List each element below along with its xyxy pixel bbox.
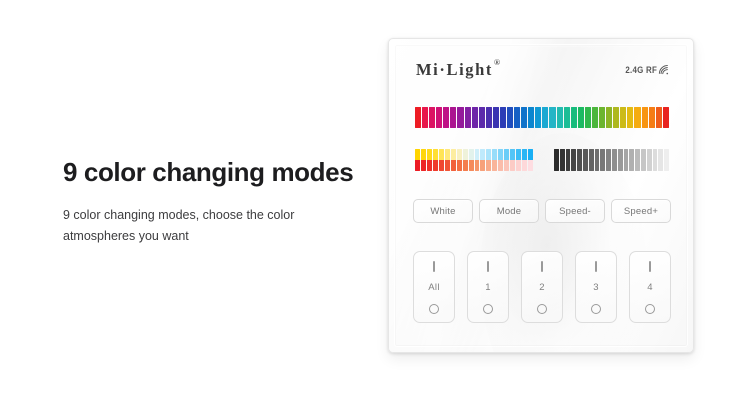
cct-segment-bottom-9 [469, 160, 474, 171]
brightness-segment-15[interactable] [641, 149, 646, 171]
cct-segment-bottom-16 [510, 160, 515, 171]
cct-segment-15[interactable] [504, 149, 509, 171]
cct-segment-top-18 [522, 149, 527, 160]
zone-button-zone-1[interactable]: 1 [467, 251, 509, 323]
rgb-segment-15[interactable] [521, 107, 527, 128]
brightness-segment-17[interactable] [653, 149, 658, 171]
zone-button-label-all: All [428, 283, 439, 293]
rgb-segment-4[interactable] [443, 107, 449, 128]
panel-content: Mi·Light® 2.4G RF [389, 39, 693, 352]
panel-brand-row: Mi·Light® 2.4G RF [416, 60, 669, 80]
cct-segment-top-5 [445, 149, 450, 160]
page-subtitle: 9 color changing modes, choose the color… [63, 205, 313, 249]
brightness-segment-12[interactable] [624, 149, 629, 171]
rgb-segment-35[interactable] [663, 107, 669, 128]
secondary-strip-row [415, 149, 669, 171]
cct-segment-top-11 [480, 149, 485, 160]
cct-segment-bottom-0 [415, 160, 420, 171]
cct-segment-bottom-6 [451, 160, 456, 171]
rgb-segment-23[interactable] [578, 107, 584, 128]
signal-waves-icon [658, 62, 669, 80]
cct-segment-bottom-7 [457, 160, 462, 171]
cct-segment-top-2 [427, 149, 432, 160]
cct-segment-top-0 [415, 149, 420, 160]
mode-button[interactable]: Mode [479, 199, 539, 223]
brightness-segment-18[interactable] [658, 149, 663, 171]
cct-segment-8[interactable] [463, 149, 468, 171]
speed-up-button-label: Speed+ [624, 206, 658, 217]
cct-segment-bottom-19 [528, 160, 533, 171]
rgb-segment-28[interactable] [613, 107, 619, 128]
brightness-segment-8[interactable] [600, 149, 605, 171]
rgb-segment-6[interactable] [457, 107, 463, 128]
brightness-segment-19[interactable] [664, 149, 669, 171]
rgb-segment-30[interactable] [627, 107, 633, 128]
power-off-circle-icon[interactable] [591, 304, 601, 314]
cct-segment-top-15 [504, 149, 509, 160]
cct-segment-13[interactable] [492, 149, 497, 171]
power-on-bar-icon[interactable] [487, 261, 489, 272]
rgb-segment-11[interactable] [493, 107, 499, 128]
rgb-segment-12[interactable] [500, 107, 506, 128]
rgb-segment-10[interactable] [486, 107, 492, 128]
zone-button-label-zone-2: 2 [539, 283, 545, 293]
cct-segment-top-12 [486, 149, 491, 160]
power-on-bar-icon[interactable] [649, 261, 651, 272]
rgb-segment-19[interactable] [549, 107, 555, 128]
brightness-segment-9[interactable] [606, 149, 611, 171]
power-off-circle-icon[interactable] [429, 304, 439, 314]
rgb-segment-9[interactable] [479, 107, 485, 128]
cct-segment-bottom-10 [475, 160, 480, 171]
power-on-bar-icon[interactable] [595, 261, 597, 272]
cct-segment-14[interactable] [498, 149, 503, 171]
cct-segment-top-14 [498, 149, 503, 160]
cct-segment-16[interactable] [510, 149, 515, 171]
cct-segment-12[interactable] [486, 149, 491, 171]
cct-segment-top-13 [492, 149, 497, 160]
rgb-segment-5[interactable] [450, 107, 456, 128]
cct-segment-19[interactable] [528, 149, 533, 171]
cct-segment-bottom-8 [463, 160, 468, 171]
rgb-segment-13[interactable] [507, 107, 513, 128]
zone-button-all[interactable]: All [413, 251, 455, 323]
cct-segment-top-19 [528, 149, 533, 160]
rgb-color-strip[interactable] [415, 107, 669, 128]
cct-segment-top-4 [439, 149, 444, 160]
brightness-segment-6[interactable] [589, 149, 594, 171]
cct-segment-bottom-4 [439, 160, 444, 171]
cct-segment-bottom-12 [486, 160, 491, 171]
cct-segment-4[interactable] [439, 149, 444, 171]
registered-trademark-icon: ® [494, 58, 500, 67]
white-button[interactable]: White [413, 199, 473, 223]
brightness-segment-2[interactable] [566, 149, 571, 171]
white-button-label: White [430, 206, 455, 217]
cct-segment-top-7 [457, 149, 462, 160]
power-off-circle-icon[interactable] [645, 304, 655, 314]
cct-segment-0[interactable] [415, 149, 420, 171]
rgb-segment-7[interactable] [465, 107, 471, 128]
rgb-segment-21[interactable] [564, 107, 570, 128]
marketing-copy-block: 9 color changing modes 9 color changing … [63, 158, 373, 248]
rgb-segment-22[interactable] [571, 107, 577, 128]
power-off-circle-icon[interactable] [483, 304, 493, 314]
brightness-segment-11[interactable] [618, 149, 623, 171]
brightness-segment-7[interactable] [595, 149, 600, 171]
cct-segment-bottom-2 [427, 160, 432, 171]
rgb-segment-34[interactable] [656, 107, 662, 128]
rgb-segment-32[interactable] [642, 107, 648, 128]
rgb-segment-33[interactable] [649, 107, 655, 128]
zone-button-label-zone-4: 4 [647, 283, 653, 293]
power-off-circle-icon[interactable] [537, 304, 547, 314]
rgb-segment-27[interactable] [606, 107, 612, 128]
speed-down-button[interactable]: Speed- [545, 199, 605, 223]
brightness-segment-13[interactable] [629, 149, 634, 171]
cct-segment-top-17 [516, 149, 521, 160]
cct-segment-bottom-15 [504, 160, 509, 171]
rgb-segment-18[interactable] [542, 107, 548, 128]
rf-label: 2.4G RF [625, 65, 657, 75]
cct-segment-bottom-3 [433, 160, 438, 171]
rgb-segment-14[interactable] [514, 107, 520, 128]
page-title: 9 color changing modes [63, 158, 373, 187]
brightness-segment-4[interactable] [577, 149, 582, 171]
brightness-segment-1[interactable] [560, 149, 565, 171]
brightness-segment-5[interactable] [583, 149, 588, 171]
rgb-segment-25[interactable] [592, 107, 598, 128]
cct-segment-top-16 [510, 149, 515, 160]
zone-button-label-zone-1: 1 [485, 283, 491, 293]
milight-touch-panel: Mi·Light® 2.4G RF [388, 38, 694, 353]
power-on-bar-icon[interactable] [541, 261, 543, 272]
cct-segment-7[interactable] [457, 149, 462, 171]
cct-segment-bottom-14 [498, 160, 503, 171]
brightness-segment-14[interactable] [635, 149, 640, 171]
brand-logo: Mi·Light® [416, 60, 499, 80]
cct-segment-2[interactable] [427, 149, 432, 171]
brightness-segment-16[interactable] [647, 149, 652, 171]
cct-segment-bottom-18 [522, 160, 527, 171]
zone-button-zone-4[interactable]: 4 [629, 251, 671, 323]
cct-segment-top-3 [433, 149, 438, 160]
zone-button-zone-3[interactable]: 3 [575, 251, 617, 323]
cct-segment-bottom-13 [492, 160, 497, 171]
rgb-segment-31[interactable] [634, 107, 640, 128]
rgb-segment-0[interactable] [415, 107, 421, 128]
cct-segment-10[interactable] [475, 149, 480, 171]
rgb-segment-1[interactable] [422, 107, 428, 128]
cct-segment-9[interactable] [469, 149, 474, 171]
cct-segment-3[interactable] [433, 149, 438, 171]
function-button-row: WhiteModeSpeed-Speed+ [413, 199, 671, 223]
cct-segment-18[interactable] [522, 149, 527, 171]
rgb-segment-3[interactable] [436, 107, 442, 128]
rgb-segment-16[interactable] [528, 107, 534, 128]
cct-segment-top-1 [421, 149, 426, 160]
brightness-segment-10[interactable] [612, 149, 617, 171]
zone-button-label-zone-3: 3 [593, 283, 599, 293]
speed-up-button[interactable]: Speed+ [611, 199, 671, 223]
cct-segment-top-9 [469, 149, 474, 160]
rgb-segment-8[interactable] [472, 107, 478, 128]
rgb-segment-2[interactable] [429, 107, 435, 128]
cct-segment-bottom-5 [445, 160, 450, 171]
cct-segment-top-10 [475, 149, 480, 160]
cct-segment-5[interactable] [445, 149, 450, 171]
cct-segment-bottom-17 [516, 160, 521, 171]
cct-segment-bottom-1 [421, 160, 426, 171]
brightness-segment-0[interactable] [554, 149, 559, 171]
cct-segment-17[interactable] [516, 149, 521, 171]
rgb-segment-24[interactable] [585, 107, 591, 128]
rgb-segment-20[interactable] [557, 107, 563, 128]
zone-button-row: All1234 [413, 251, 671, 323]
cct-segment-6[interactable] [451, 149, 456, 171]
cct-segment-top-6 [451, 149, 456, 160]
brightness-strip[interactable] [554, 149, 669, 171]
brand-name: Mi·Light [416, 60, 493, 79]
cct-segment-top-8 [463, 149, 468, 160]
power-on-bar-icon[interactable] [433, 261, 435, 272]
brightness-segment-3[interactable] [571, 149, 576, 171]
rgb-segment-26[interactable] [599, 107, 605, 128]
cct-segment-1[interactable] [421, 149, 426, 171]
rgb-segment-17[interactable] [535, 107, 541, 128]
warm-cool-white-strip[interactable] [415, 149, 533, 171]
mode-button-label: Mode [497, 206, 522, 217]
speed-down-button-label: Speed- [559, 206, 591, 217]
rgb-segment-29[interactable] [620, 107, 626, 128]
rf-badge: 2.4G RF [621, 65, 669, 80]
zone-button-zone-2[interactable]: 2 [521, 251, 563, 323]
cct-segment-bottom-11 [480, 160, 485, 171]
cct-segment-11[interactable] [480, 149, 485, 171]
